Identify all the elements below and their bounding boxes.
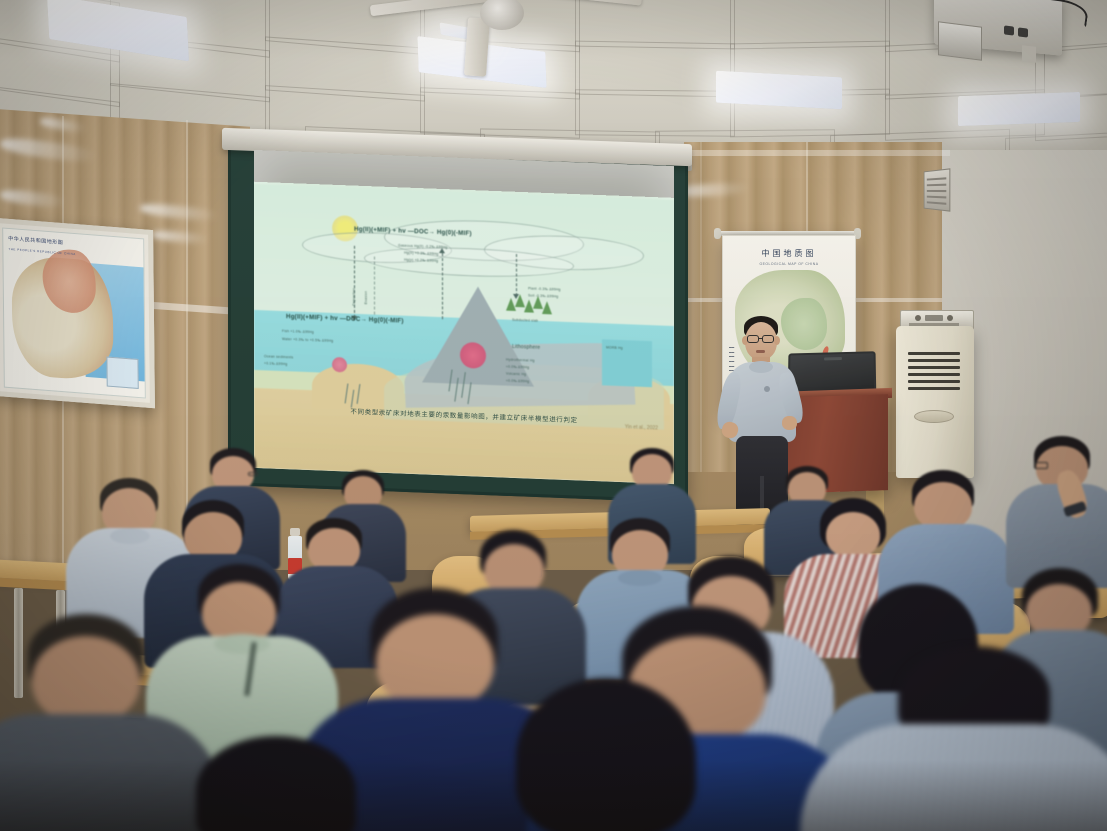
- dry-deposition-arrow: [516, 254, 517, 296]
- banner-subtitle: GEOLOGICAL MAP OF CHINA: [723, 262, 855, 266]
- attendee-far-right-arm-up: [1016, 436, 1107, 588]
- projection-screen: Hg(II)(+MIF) + hv —DOC→ Hg(0)(-MIF) Gase…: [254, 150, 674, 484]
- projector-lens: [938, 21, 982, 60]
- slide-vent-label: MORB Hg: [606, 345, 623, 351]
- volcano-magma: [332, 357, 347, 373]
- slide-lith-note-2: ≈0.0‰ Δ99Hg: [506, 365, 529, 371]
- dry-deposition-arrow-head: [513, 294, 519, 299]
- slide-lith-note-1: Hydrothermal Hg: [506, 358, 535, 364]
- lecture-hall-photo: Hg(II)(+MIF) + hv —DOC→ Hg(0)(-MIF) Gase…: [0, 0, 1107, 831]
- banner-knob-left: [714, 228, 721, 239]
- slide-lithosphere-label: Lithosphere: [512, 344, 540, 351]
- presenter-mouth: [756, 350, 765, 353]
- slide-lith-note-3: Volcanic Hg: [506, 372, 526, 378]
- magma-chamber: [460, 342, 486, 369]
- deposition-arrow: [354, 246, 355, 318]
- presenter-hand-right: [782, 416, 797, 430]
- banner-title: 中国地质图: [723, 248, 855, 259]
- slide-content: Hg(II)(+MIF) + hv —DOC→ Hg(0)(-MIF) Gase…: [254, 184, 674, 484]
- ceiling-light-3: [716, 71, 842, 110]
- projector-port-a: [1004, 25, 1014, 35]
- slide-sediment-note: +0.1‰ Δ99Hg: [264, 361, 287, 367]
- poster-inset-map: [106, 356, 138, 388]
- evasion-arrow: [442, 253, 443, 319]
- presenter-glasses-right: [762, 335, 774, 343]
- projector-mount: [1022, 45, 1036, 62]
- slide-lith-note-4: ≈0.0‰ Δ99Hg: [506, 379, 529, 385]
- slide-evasion-label: Evasion: [364, 291, 368, 305]
- poster-title: 中华人民共和国地形图: [8, 235, 63, 248]
- slide-deposition-label: Deposition: [352, 288, 356, 306]
- fan-blade-down: [464, 17, 490, 76]
- presenter-glasses-bridge: [759, 338, 762, 339]
- laptop-webcam-bar: [824, 357, 842, 360]
- projector-port-b: [1018, 27, 1028, 37]
- presenter-collar: [749, 361, 773, 373]
- foreground-shadow: [0, 760, 1107, 831]
- vent-flux-arrow: [374, 257, 375, 315]
- ac-vent-grill: [908, 352, 960, 394]
- ac-brand-badge: [914, 410, 954, 423]
- poster-subtitle: THE PEOPLE'S REPUBLIC OF CHINA: [8, 247, 75, 258]
- china-physical-map-poster: 中华人民共和国地形图 THE PEOPLE'S REPUBLIC OF CHIN…: [0, 218, 155, 408]
- presenter-logo: [764, 386, 770, 392]
- ceiling-light-4: [958, 92, 1080, 126]
- presenter-ear-right: [774, 336, 780, 345]
- presenter-glasses-left: [747, 335, 759, 343]
- wall-speaker: [924, 168, 951, 211]
- air-conditioner[interactable]: [896, 326, 974, 478]
- slide-slab-label: Subducted slab: [512, 318, 538, 324]
- amp-display: [925, 315, 943, 321]
